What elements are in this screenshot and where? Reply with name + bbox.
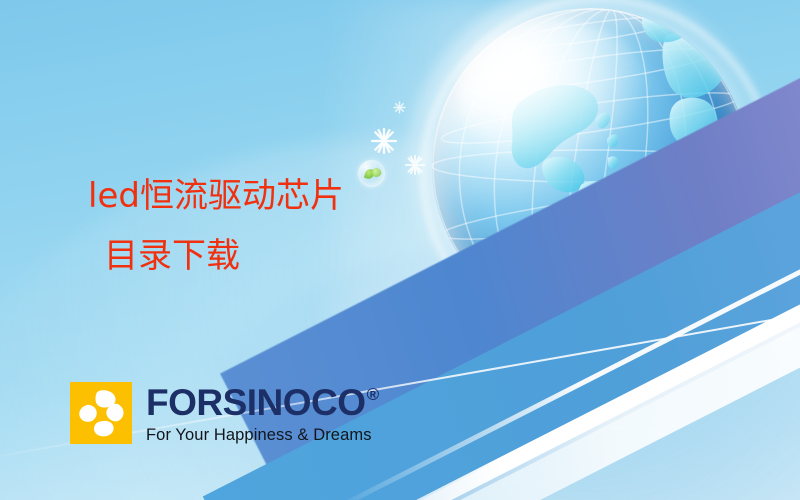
promotional-banner: led恒流驱动芯片 目录下载 FORSINOCO ® For Your Happ… [0,0,800,500]
green-leaf-icon [783,119,797,133]
headline-line-2: 目录下载 [88,226,508,286]
forsinoco-pinwheel-icon [70,382,132,444]
brand-logo[interactable]: FORSINOCO ® For Your Happiness & Dreams [70,382,379,445]
white-starburst-icon [393,101,406,114]
white-starburst-icon [371,128,397,154]
leaf-bubble-icon [498,328,532,362]
headline-line-1: led恒流驱动芯片 [88,166,508,226]
logo-text-block: FORSINOCO ® For Your Happiness & Dreams [146,382,379,445]
leaf-bubble-icon [770,112,800,144]
logo-tagline: For Your Happiness & Dreams [146,425,379,445]
logo-wordmark: FORSINOCO ® [146,384,379,422]
logo-name: FORSINOCO [146,384,366,422]
registered-trademark-icon: ® [367,385,379,405]
headline-block: led恒流驱动芯片 目录下载 [88,166,508,286]
